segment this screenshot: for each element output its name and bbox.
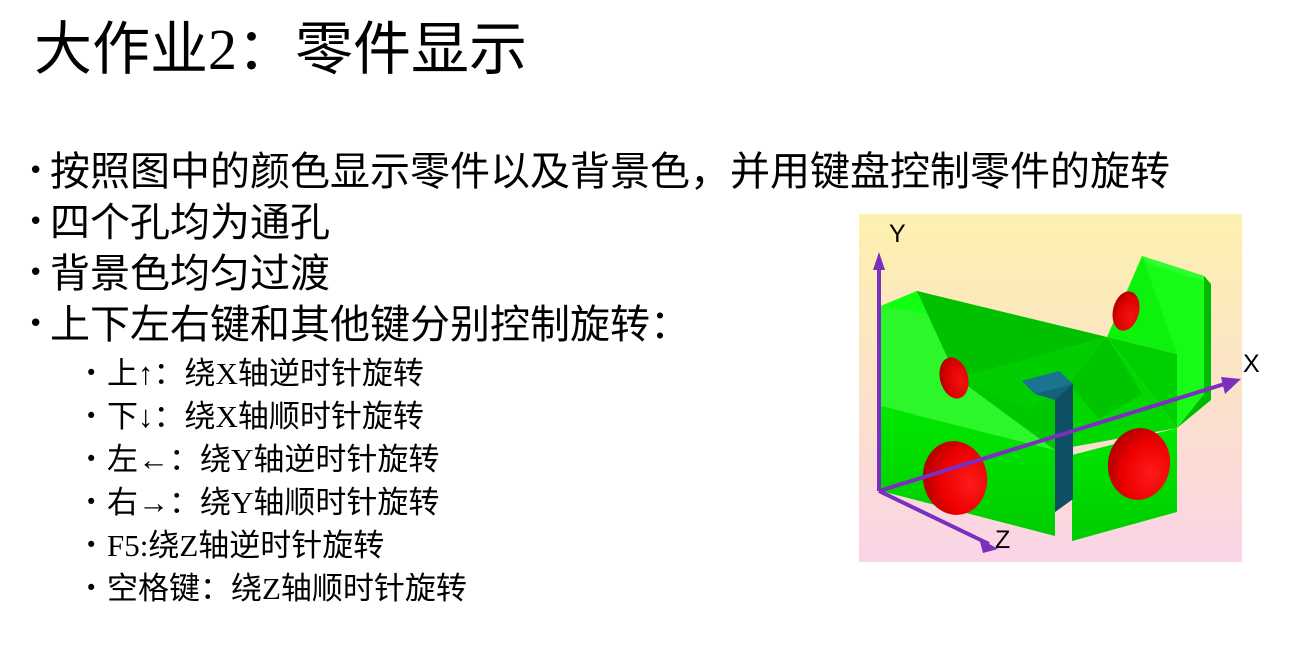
bullet-marker-icon: •	[85, 352, 107, 395]
bullet-marker-icon: •	[28, 299, 50, 350]
bullet-marker-icon: •	[85, 524, 107, 567]
page-title: 大作业2：零件显示	[34, 14, 527, 86]
bullet-marker-icon: •	[28, 146, 50, 197]
bullet-marker-icon: •	[28, 248, 50, 299]
sublist-item-label: 上↑：绕X轴逆时针旋转	[107, 352, 424, 395]
list-item: • 按照图中的颜色显示零件以及背景色，并用键盘控制零件的旋转	[28, 146, 1278, 197]
sublist-item-label: 空格键：绕Z轴顺时针旋转	[107, 567, 467, 610]
axis-label-x: X	[1243, 352, 1260, 377]
axis-label-y: Y	[889, 222, 906, 247]
axis-label-z: Z	[995, 528, 1010, 553]
list-item-label: 背景色均匀过渡	[50, 248, 330, 299]
list-item-label: 按照图中的颜色显示零件以及背景色，并用键盘控制零件的旋转	[50, 146, 1170, 197]
sublist-item-label: 右→：绕Y轴顺时针旋转	[107, 481, 439, 524]
sublist-item-label: F5:绕Z轴逆时针旋转	[107, 524, 384, 567]
list-item-label: 上下左右键和其他键分别控制旋转：	[50, 299, 690, 350]
sublist-item-label: 左←：绕Y轴逆时针旋转	[107, 438, 439, 481]
bullet-marker-icon: •	[85, 438, 107, 481]
bullet-marker-icon: •	[85, 481, 107, 524]
sublist-item: • 空格键：绕Z轴顺时针旋转	[85, 567, 1278, 610]
part-figure	[859, 214, 1242, 562]
part-render-svg	[859, 214, 1242, 562]
sublist-item-label: 下↓：绕X轴顺时针旋转	[107, 395, 424, 438]
bullet-marker-icon: •	[28, 197, 50, 248]
bullet-marker-icon: •	[85, 395, 107, 438]
slot-side-face	[1055, 384, 1073, 512]
list-item-label: 四个孔均为通孔	[50, 197, 330, 248]
bullet-marker-icon: •	[85, 567, 107, 610]
